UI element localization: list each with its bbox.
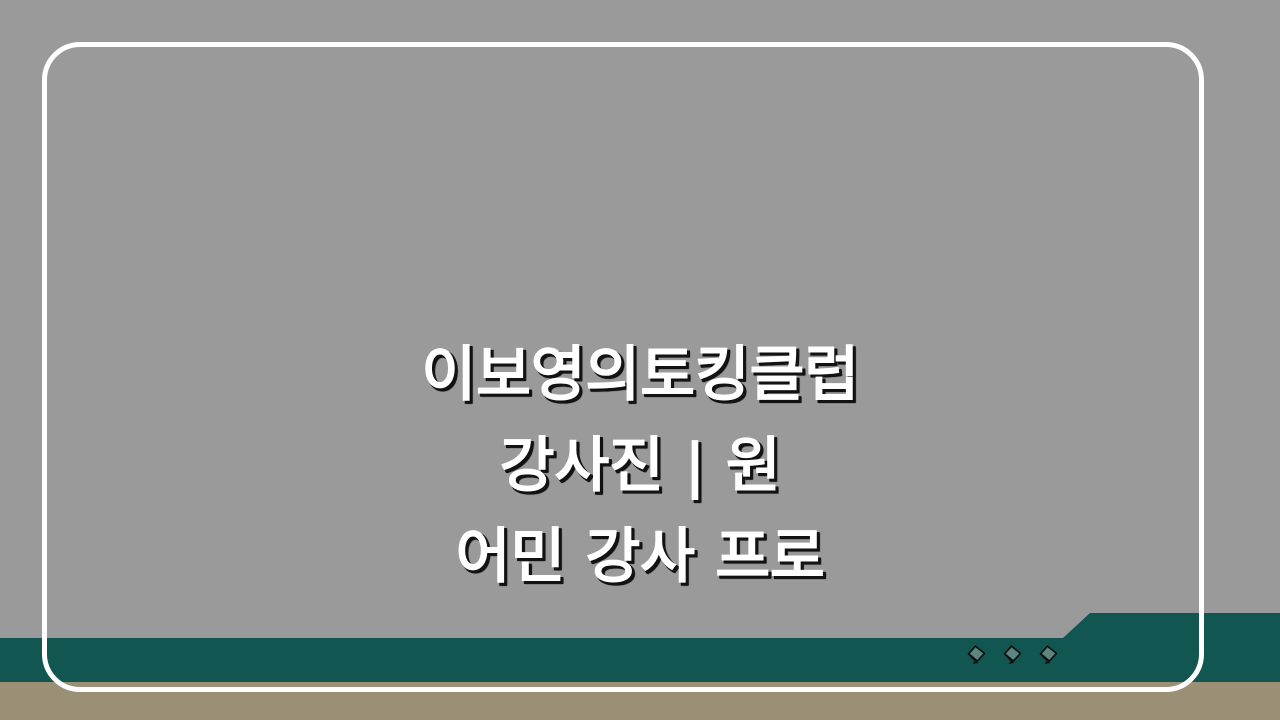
- headline-line-2: 강사진 | 원: [80, 421, 1200, 512]
- thumbnail-canvas: 이보영의토킹클럽 강사진 | 원 어민 강사 프로: [0, 0, 1280, 720]
- headline-line-1: 이보영의토킹클럽: [80, 330, 1200, 421]
- headline-line-3: 어민 강사 프로: [80, 512, 1200, 603]
- bottom-tan-strip: [0, 682, 1280, 720]
- headline-block: 이보영의토킹클럽 강사진 | 원 어민 강사 프로: [0, 330, 1280, 604]
